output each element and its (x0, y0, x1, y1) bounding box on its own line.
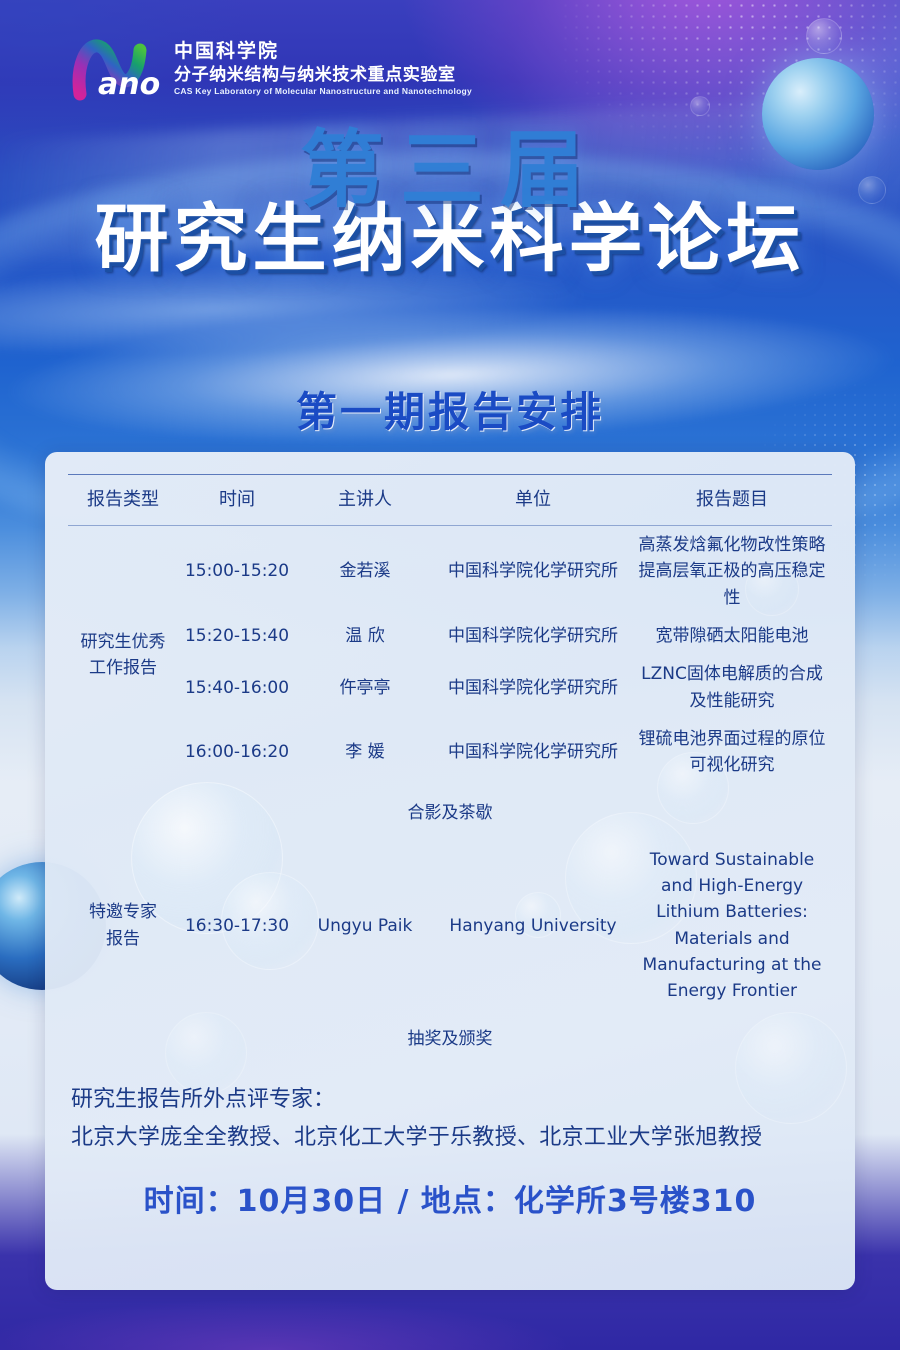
cell-time: 15:20-15:40 (178, 617, 296, 655)
cell-org: 中国科学院化学研究所 (434, 655, 632, 720)
cell-title: 宽带隙硒太阳能电池 (632, 617, 832, 655)
category-line-1: 研究生优秀 (72, 629, 174, 655)
cell-org-invited: Hanyang University (434, 841, 632, 1011)
cell-org: 中国科学院化学研究所 (434, 526, 632, 618)
cell-time: 16:00-16:20 (178, 720, 296, 785)
table-row: 16:00-16:20 李 媛 中国科学院化学研究所 锂硫电池界面过程的原位可视… (68, 720, 832, 785)
schedule-card: 报告类型 时间 主讲人 单位 报告题目 研究生优秀 工作报告 15:00-15:… (45, 452, 855, 1290)
cell-break-label: 合影及茶歇 (68, 785, 832, 841)
lab-line-name-en: CAS Key Laboratory of Molecular Nanostru… (174, 87, 472, 96)
table-header-row: 报告类型 时间 主讲人 单位 报告题目 (68, 475, 832, 526)
cell-title: 锂硫电池界面过程的原位可视化研究 (632, 720, 832, 785)
cell-title: LZNC固体电解质的合成及性能研究 (632, 655, 832, 720)
th-time: 时间 (178, 475, 296, 526)
th-speaker: 主讲人 (296, 475, 434, 526)
cell-speaker: 温 欣 (296, 617, 434, 655)
th-title: 报告题目 (632, 475, 832, 526)
reviewers-list: 北京大学庞全全教授、北京化工大学于乐教授、北京工业大学张旭教授 (71, 1119, 829, 1158)
th-org: 单位 (434, 475, 632, 526)
footer-block: 研究生报告所外点评专家： 北京大学庞全全教授、北京化工大学于乐教授、北京工业大学… (45, 1081, 855, 1220)
lab-line-name-cn: 分子纳米结构与纳米技术重点实验室 (174, 66, 472, 83)
table-row: 15:40-16:00 仵亭亭 中国科学院化学研究所 LZNC固体电解质的合成及… (68, 655, 832, 720)
invited-category-line-2: 报告 (72, 926, 174, 952)
cell-time: 15:40-16:00 (178, 655, 296, 720)
table-row-award: 抽奖及颁奖 (68, 1011, 832, 1067)
lab-line-cas: 中国科学院 (174, 42, 472, 61)
svg-text:ano: ano (98, 67, 160, 102)
time-and-venue: 时间：10月30日 / 地点：化学所3号楼310 (71, 1176, 829, 1220)
cell-time: 15:00-15:20 (178, 526, 296, 618)
section-heading: 第一期报告安排 (0, 378, 900, 438)
category-line-2: 工作报告 (72, 655, 174, 681)
table-row-invited: 特邀专家 报告 16:30-17:30 Ungyu Paik Hanyang U… (68, 841, 832, 1011)
reviewers-label: 研究生报告所外点评专家： (71, 1081, 829, 1120)
poster-root: ano 中国科学院 分子纳米结构与纳米技术重点实验室 CAS Key Labor… (0, 0, 900, 1350)
cell-category-invited: 特邀专家 报告 (68, 841, 178, 1011)
cell-org: 中国科学院化学研究所 (434, 617, 632, 655)
cell-org: 中国科学院化学研究所 (434, 720, 632, 785)
hero-edition: 第三届 (0, 128, 900, 212)
cell-speaker-invited: Ungyu Paik (296, 841, 434, 1011)
nano-wave-logo-icon: ano (68, 36, 160, 102)
table-row: 15:20-15:40 温 欣 中国科学院化学研究所 宽带隙硒太阳能电池 (68, 617, 832, 655)
cell-speaker: 仵亭亭 (296, 655, 434, 720)
cell-title: 高蒸发焓氟化物改性策略提高层氧正极的高压稳定性 (632, 526, 832, 618)
schedule-table: 报告类型 时间 主讲人 单位 报告题目 研究生优秀 工作报告 15:00-15:… (68, 474, 832, 1067)
cell-category-student: 研究生优秀 工作报告 (68, 526, 178, 785)
lab-logo-block: ano 中国科学院 分子纳米结构与纳米技术重点实验室 CAS Key Labor… (68, 36, 472, 102)
cell-award-label: 抽奖及颁奖 (68, 1011, 832, 1067)
cell-speaker: 金若溪 (296, 526, 434, 618)
table-row-break: 合影及茶歇 (68, 785, 832, 841)
th-report-type: 报告类型 (68, 475, 178, 526)
table-row: 研究生优秀 工作报告 15:00-15:20 金若溪 中国科学院化学研究所 高蒸… (68, 526, 832, 618)
cell-time-invited: 16:30-17:30 (178, 841, 296, 1011)
invited-category-line-1: 特邀专家 (72, 899, 174, 925)
cell-speaker: 李 媛 (296, 720, 434, 785)
cell-title-invited: Toward Sustainable and High-Energy Lithi… (632, 841, 832, 1011)
hero-title-block: 第三届 研究生纳米科学论坛 (0, 128, 900, 281)
